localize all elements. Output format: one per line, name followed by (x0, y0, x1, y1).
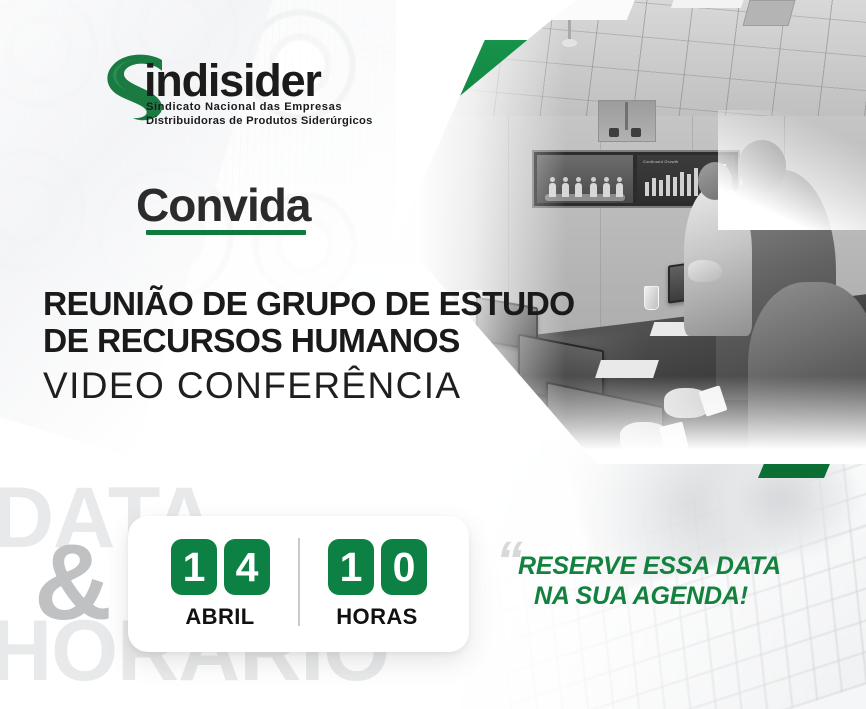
call-to-action: “ RESERVE ESSA DATA NA SUA AGENDA! (518, 552, 818, 611)
logo-tagline-line2: Distribuidoras de Produtos Siderúrgicos (146, 115, 373, 127)
time-group: 1 0 HORAS (328, 539, 427, 630)
watermark-line-ampersand: & (34, 528, 111, 636)
sindisider-logo: indisider Sindicato Nacional das Empresa… (104, 56, 354, 136)
kicker-convida: Convida (136, 178, 310, 232)
time-label: HORAS (336, 604, 417, 630)
ceiling-light-b (671, 0, 748, 8)
ceiling-vent (743, 0, 796, 26)
time-digit-2: 0 (381, 539, 427, 595)
hand-raised (688, 260, 722, 282)
headline-line-2: DE RECURSOS HUMANOS (43, 325, 513, 360)
card-divider (298, 538, 300, 626)
cta-line-2: NA SUA AGENDA! (534, 582, 818, 612)
date-group: 1 4 ABRIL (171, 539, 270, 630)
camera-rod (625, 102, 628, 130)
date-digit-2: 4 (224, 539, 270, 595)
time-digits: 1 0 (328, 539, 427, 595)
time-digit-1: 1 (328, 539, 374, 595)
invitation-poster: DATA & HORARIO (0, 0, 866, 709)
headline-line-3: VIDEO CONFERÊNCIA (43, 365, 513, 407)
date-digit-1: 1 (171, 539, 217, 595)
event-headline: REUNIÃO DE GRUPO DE ESTUDO DE RECURSOS H… (43, 288, 513, 407)
water-glass-c (644, 286, 659, 310)
conference-camera-right (631, 128, 641, 137)
conference-camera-left (609, 128, 619, 137)
logo-wordmark: indisider (144, 58, 321, 103)
cta-line-1: RESERVE ESSA DATA (518, 552, 818, 582)
quote-mark-icon: “ (496, 534, 523, 588)
photo-top-right-fade (718, 110, 866, 230)
date-label: ABRIL (185, 604, 254, 630)
date-digits: 1 4 (171, 539, 270, 595)
ceiling-light-a (531, 0, 638, 20)
date-time-card: 1 4 ABRIL 1 0 HORAS (128, 516, 469, 652)
kicker-underline (146, 230, 306, 235)
screen-chart-title: Continued Growth (643, 159, 678, 164)
headline-line-1: REUNIÃO DE GRUPO DE ESTUDO (43, 288, 513, 323)
logo-tagline-line1: Sindicato Nacional das Empresas (146, 101, 342, 113)
